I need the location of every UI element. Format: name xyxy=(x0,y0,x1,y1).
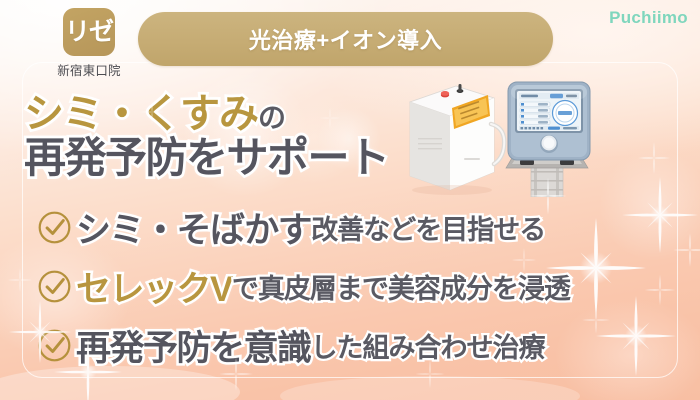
benefit-rest: で真皮層まで美容成分を浸透 xyxy=(232,267,570,306)
headline-particle: の xyxy=(258,102,286,133)
benefit-rest: 改善などを目指せる xyxy=(311,208,545,247)
headline-line2: 再発予防をサポート xyxy=(24,134,389,181)
benefit-emphasis: シミ・そばかす xyxy=(76,202,311,253)
list-item: シミ・そばかす改善などを目指せる xyxy=(36,198,676,257)
promo-banner: リゼ 新宿東口院 光治療+イオン導入 Puchiimo シミ・くすみの 再発予防… xyxy=(0,0,700,400)
list-item: 再発予防を意識した組み合わせ治療 xyxy=(36,316,676,375)
treatment-badge-label: 光治療+イオン導入 xyxy=(249,23,442,55)
clinic-branch-label: 新宿東口院 xyxy=(46,60,132,79)
clinic-logo: リゼ xyxy=(63,8,115,56)
device-photos xyxy=(398,72,603,197)
headline-highlight: シミ・くすみ xyxy=(24,92,258,136)
check-circle-icon xyxy=(36,268,73,305)
treatment-badge: 光治療+イオン導入 xyxy=(138,12,553,66)
list-item: セレックVで真皮層まで美容成分を浸透 xyxy=(36,257,676,316)
ion-introduction-console xyxy=(506,82,590,197)
clinic-logo-text: リゼ xyxy=(65,20,113,45)
site-brand-logo: Puchiimo xyxy=(609,8,688,28)
benefit-list: シミ・そばかす改善などを目指せる セレックVで真皮層まで美容成分を浸透 再発予防… xyxy=(36,198,676,375)
benefit-rest: した組み合わせ治療 xyxy=(311,326,545,365)
check-circle-icon xyxy=(36,327,73,364)
headline: シミ・くすみの 再発予防をサポート xyxy=(24,94,389,180)
light-therapy-machine xyxy=(410,84,504,195)
benefit-emphasis: セレックV xyxy=(76,261,232,312)
check-circle-icon xyxy=(36,209,73,246)
benefit-emphasis: 再発予防を意識 xyxy=(76,320,311,371)
